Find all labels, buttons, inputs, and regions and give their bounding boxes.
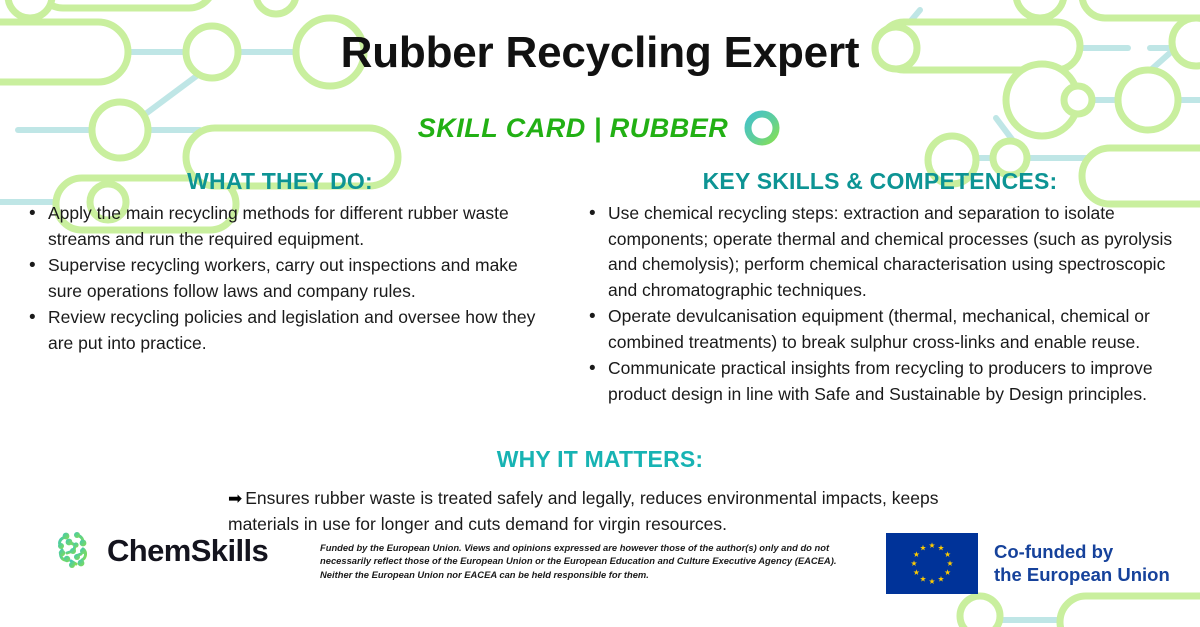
chemskills-wordmark: ChemSkills <box>107 533 268 569</box>
key-skills-heading: KEY SKILLS & COMPETENCES: <box>580 168 1180 195</box>
why-it-matters-body: ➡Ensures rubber waste is treated safely … <box>228 486 988 537</box>
list-item: Review recycling policies and legislatio… <box>20 305 540 356</box>
page-title: Rubber Recycling Expert <box>0 28 1200 78</box>
list-item: Operate devulcanisation equipment (therm… <box>580 304 1180 355</box>
gradient-ring-icon <box>742 108 782 148</box>
arrow-right-icon: ➡ <box>228 489 242 508</box>
list-item: Communicate practical insights from recy… <box>580 356 1180 407</box>
funding-disclaimer: Funded by the European Union. Views and … <box>320 541 868 581</box>
what-they-do-section: WHAT THEY DO: Apply the main recycling m… <box>20 168 540 357</box>
eu-text-line-1: Co-funded by <box>994 541 1170 564</box>
subtitle-row: SKILL CARD | RUBBER <box>0 108 1200 148</box>
eu-text-line-2: the European Union <box>994 564 1170 587</box>
why-it-matters-heading: WHY IT MATTERS: <box>0 446 1200 473</box>
key-skills-list: Use chemical recycling steps: extraction… <box>580 201 1180 407</box>
eu-cofunding-text: Co-funded by the European Union <box>994 541 1170 587</box>
what-they-do-list: Apply the main recycling methods for dif… <box>20 201 540 356</box>
eu-cofunding-badge: Co-funded by the European Union <box>886 533 1170 594</box>
key-skills-section: KEY SKILLS & COMPETENCES: Use chemical r… <box>580 168 1180 408</box>
chemskills-logo: ChemSkills <box>52 528 268 574</box>
list-item: Apply the main recycling methods for dif… <box>20 201 540 252</box>
what-they-do-heading: WHAT THEY DO: <box>20 168 540 195</box>
skill-card: Rubber Recycling Expert SKILL CARD | RUB… <box>0 0 1200 627</box>
list-item: Supervise recycling workers, carry out i… <box>20 253 540 304</box>
why-it-matters-text: Ensures rubber waste is treated safely a… <box>228 488 938 534</box>
chemskills-molecule-icon <box>52 528 98 574</box>
subtitle: SKILL CARD | RUBBER <box>418 113 729 144</box>
list-item: Use chemical recycling steps: extraction… <box>580 201 1180 303</box>
eu-flag-icon <box>886 533 978 594</box>
